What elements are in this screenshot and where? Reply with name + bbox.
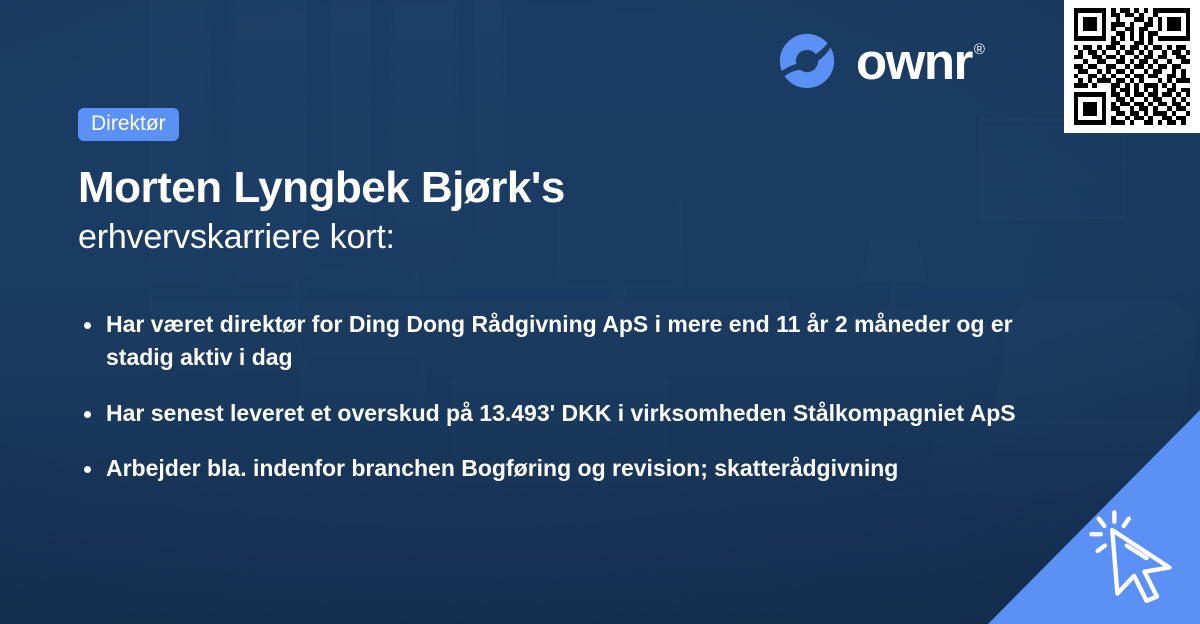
- list-item: Har senest leveret et overskud på 13.493…: [80, 397, 1040, 430]
- career-card: ownr ® Direktør Morten Lyngbek Bjørk's e…: [0, 0, 1200, 624]
- page-subtitle: erhvervskarriere kort:: [78, 218, 1038, 257]
- career-facts-list: Har været direktør for Ding Dong Rådgivn…: [80, 308, 1040, 485]
- qr-code-icon: [1074, 8, 1191, 125]
- brand-logo[interactable]: ownr ®: [776, 30, 985, 92]
- registered-trademark-icon: ®: [974, 42, 985, 57]
- brand-name: ownr: [856, 36, 972, 87]
- headline-block: Direktør Morten Lyngbek Bjørk's erhvervs…: [78, 108, 1038, 257]
- page-title: Morten Lyngbek Bjørk's: [78, 163, 1038, 212]
- click-cursor-icon: [1080, 502, 1184, 606]
- list-item: Arbejder bla. indenfor branchen Bogførin…: [80, 452, 1040, 485]
- ownr-circle-swirl-icon: [776, 30, 838, 92]
- list-item: Har været direktør for Ding Dong Rådgivn…: [80, 308, 1040, 375]
- qr-code[interactable]: [1064, 0, 1200, 133]
- status-badge: Direktør: [78, 108, 179, 141]
